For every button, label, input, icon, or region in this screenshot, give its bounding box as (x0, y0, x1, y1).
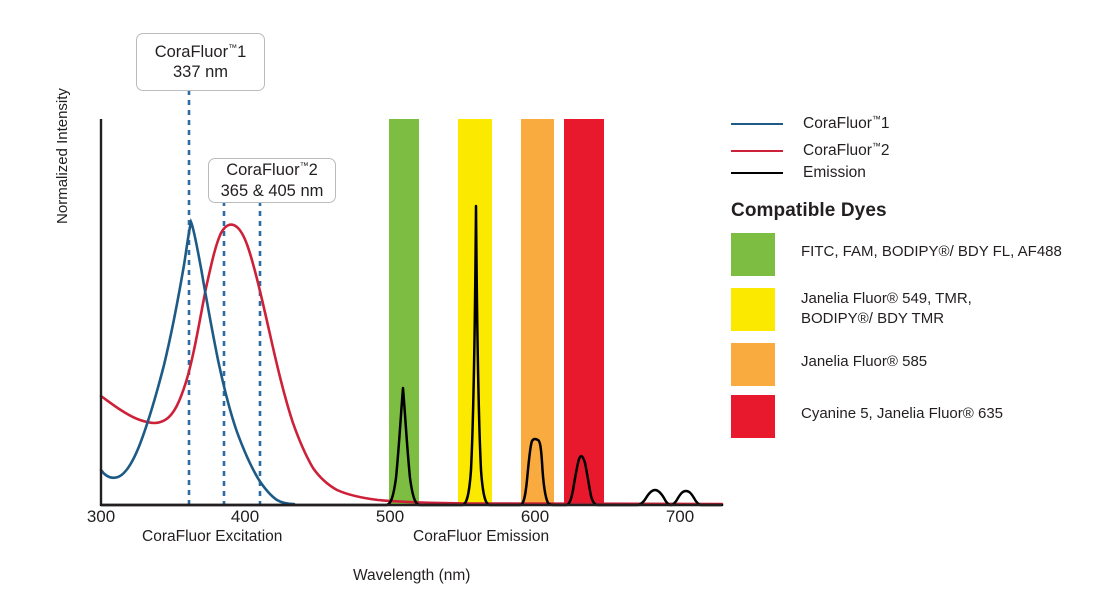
excitation-markers (189, 90, 260, 504)
xtick-600: 600 (505, 507, 565, 527)
xtick-400: 400 (215, 507, 275, 527)
dye-item-green: FITC, FAM, BODIPY®/ BDY FL, AF488 (731, 233, 1062, 276)
band-green (389, 119, 419, 504)
legend-item-corafluor2: CoraFluor™2 (731, 141, 890, 160)
legend-label: CoraFluor™1 (803, 114, 890, 133)
compatible-dyes-title: Compatible Dyes (731, 200, 887, 222)
legend-item-emission: Emission (731, 164, 866, 182)
dye-swatch-red (731, 395, 775, 438)
callout1-line2: 337 nm (173, 62, 228, 82)
dye-item-orange: Janelia Fluor® 585 (731, 343, 927, 386)
legend-label: Emission (803, 164, 866, 182)
dye-label: FITC, FAM, BODIPY®/ BDY FL, AF488 (801, 233, 1062, 262)
legend-item-corafluor1: CoraFluor™1 (731, 114, 890, 133)
xtick-700: 700 (650, 507, 710, 527)
callout2-line1: CoraFluor™2 (226, 160, 318, 180)
legend-label: CoraFluor™2 (803, 141, 890, 160)
caption-emission: CoraFluor Emission (413, 528, 549, 546)
callout-corafluor2: CoraFluor™2 365 & 405 nm (208, 158, 336, 203)
band-orange (521, 119, 554, 504)
legend-swatch-line (731, 150, 783, 152)
curve-corafluor1 (101, 222, 294, 504)
dye-swatch-green (731, 233, 775, 276)
callout2-line2: 365 & 405 nm (221, 181, 324, 201)
band-red (564, 119, 604, 504)
callout1-line1: CoraFluor™1 (155, 42, 247, 62)
dye-label: Cyanine 5, Janelia Fluor® 635 (801, 395, 1003, 424)
dye-label: Janelia Fluor® 549, TMR, BODIPY®/ BDY TM… (801, 288, 972, 329)
legend-swatch-line (731, 123, 783, 125)
caption-excitation: CoraFluor Excitation (142, 528, 282, 546)
dye-label: Janelia Fluor® 585 (801, 343, 927, 372)
xtick-300: 300 (71, 507, 131, 527)
xtick-500: 500 (360, 507, 420, 527)
dye-swatch-orange (731, 343, 775, 386)
dye-item-red: Cyanine 5, Janelia Fluor® 635 (731, 395, 1003, 438)
x-axis-title: Wavelength (nm) (353, 567, 470, 585)
y-axis-title: Normalized Intensity (54, 76, 71, 236)
legend-swatch-line (731, 172, 783, 174)
dye-item-yellow: Janelia Fluor® 549, TMR, BODIPY®/ BDY TM… (731, 288, 972, 331)
callout-corafluor1: CoraFluor™1 337 nm (136, 33, 265, 91)
dye-bands (389, 119, 604, 504)
dye-swatch-yellow (731, 288, 775, 331)
